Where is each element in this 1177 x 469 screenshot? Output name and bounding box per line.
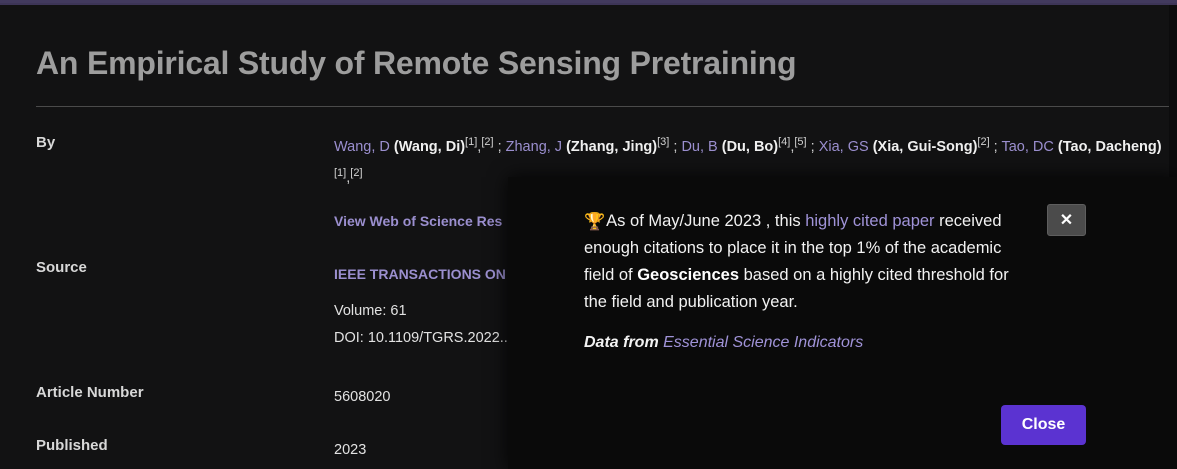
highly-cited-paper-modal: 🏆As of May/June 2023 , this highly cited… bbox=[508, 177, 1177, 469]
modal-data-source: Data from Essential Science Indicators bbox=[584, 334, 863, 352]
author-affiliation-ref: [5] bbox=[794, 136, 806, 148]
modal-description: 🏆As of May/June 2023 , this highly cited… bbox=[584, 208, 1014, 316]
essential-science-indicators-link[interactable]: Essential Science Indicators bbox=[663, 334, 863, 351]
author-affiliation-ref: [1] bbox=[334, 167, 346, 179]
field-label-by: By bbox=[36, 134, 55, 151]
author-affiliation-ref: [1] bbox=[465, 136, 477, 148]
author-entry: Du, B (Du, Bo)[4],[5] bbox=[681, 139, 806, 155]
author-separator: ; bbox=[990, 139, 1002, 155]
author-entry: Zhang, J (Zhang, Jing)[3] bbox=[506, 139, 670, 155]
author-entry: Xia, GS (Xia, Gui-Song)[2] bbox=[819, 139, 990, 155]
author-affiliation-ref: [3] bbox=[657, 136, 669, 148]
author-affiliation-ref: [4] bbox=[778, 136, 790, 148]
author-link[interactable]: Tao, DC bbox=[1001, 139, 1053, 155]
author-full-name: (Xia, Gui-Song) bbox=[873, 139, 978, 155]
author-affiliation-ref: [2] bbox=[481, 136, 493, 148]
author-link[interactable]: Du, B bbox=[681, 139, 717, 155]
article-number-value: 5608020 bbox=[334, 384, 390, 410]
author-entry: Wang, D (Wang, Di)[1],[2] bbox=[334, 139, 494, 155]
highly-cited-paper-link[interactable]: highly cited paper bbox=[805, 212, 934, 230]
trophy-icon: 🏆 bbox=[584, 212, 605, 231]
author-full-name: (Tao, Dacheng) bbox=[1058, 139, 1162, 155]
academic-field-name: Geosciences bbox=[637, 266, 739, 284]
author-separator: ; bbox=[807, 139, 819, 155]
author-affiliation-ref: [2] bbox=[350, 167, 362, 179]
author-separator: ; bbox=[494, 139, 506, 155]
author-full-name: (Zhang, Jing) bbox=[566, 139, 657, 155]
author-full-name: (Du, Bo) bbox=[722, 139, 778, 155]
close-button[interactable]: Close bbox=[1001, 405, 1086, 445]
author-link[interactable]: Wang, D bbox=[334, 139, 390, 155]
top-accent-bar-inner bbox=[0, 0, 1177, 3]
field-label-published: Published bbox=[36, 437, 108, 454]
author-separator: ; bbox=[669, 139, 681, 155]
wos-researcher-link-row: View Web of Science Res bbox=[334, 208, 502, 235]
author-link[interactable]: Zhang, J bbox=[506, 139, 562, 155]
close-icon[interactable]: ✕ bbox=[1047, 204, 1086, 236]
field-label-source: Source bbox=[36, 259, 87, 276]
author-affiliation-ref: [2] bbox=[977, 136, 989, 148]
data-from-label: Data from bbox=[584, 334, 663, 351]
view-web-of-science-researcher-link[interactable]: View Web of Science Res bbox=[334, 213, 502, 229]
published-value: 2023 bbox=[334, 437, 366, 463]
modal-text-lead: As of May/June 2023 , this bbox=[606, 212, 805, 230]
title-divider bbox=[36, 106, 1169, 107]
field-label-article-number: Article Number bbox=[36, 384, 144, 401]
author-full-name: (Wang, Di) bbox=[394, 139, 465, 155]
page-title: An Empirical Study of Remote Sensing Pre… bbox=[36, 45, 1146, 82]
author-link[interactable]: Xia, GS bbox=[819, 139, 869, 155]
